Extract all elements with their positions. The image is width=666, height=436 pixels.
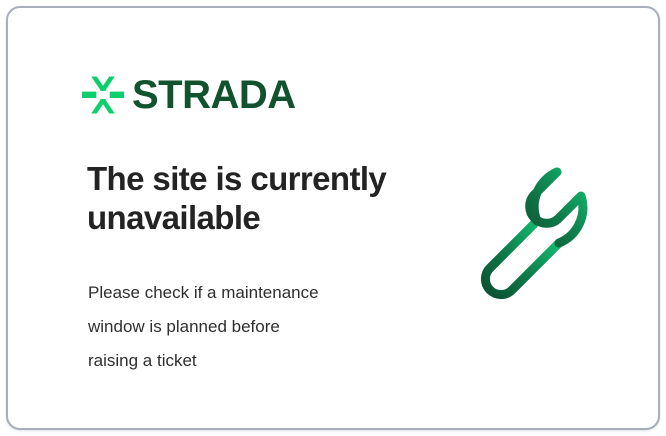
page-title: The site is currently unavailable xyxy=(87,160,417,238)
description-line-1: Please check if a maintenance xyxy=(88,276,398,310)
page-description: Please check if a maintenance window is … xyxy=(88,276,398,378)
wrench-illustration xyxy=(460,154,628,322)
brand-wordmark: STRADA xyxy=(132,75,296,115)
asterisk-star-icon xyxy=(82,74,124,116)
description-line-2: window is planned before xyxy=(88,310,398,344)
status-card: STRADA The site is currently unavailable… xyxy=(6,6,660,430)
page-root: STRADA The site is currently unavailable… xyxy=(0,0,666,436)
description-line-3: raising a ticket xyxy=(88,344,398,378)
brand-lockup: STRADA xyxy=(82,74,296,116)
wrench-icon xyxy=(460,154,628,322)
